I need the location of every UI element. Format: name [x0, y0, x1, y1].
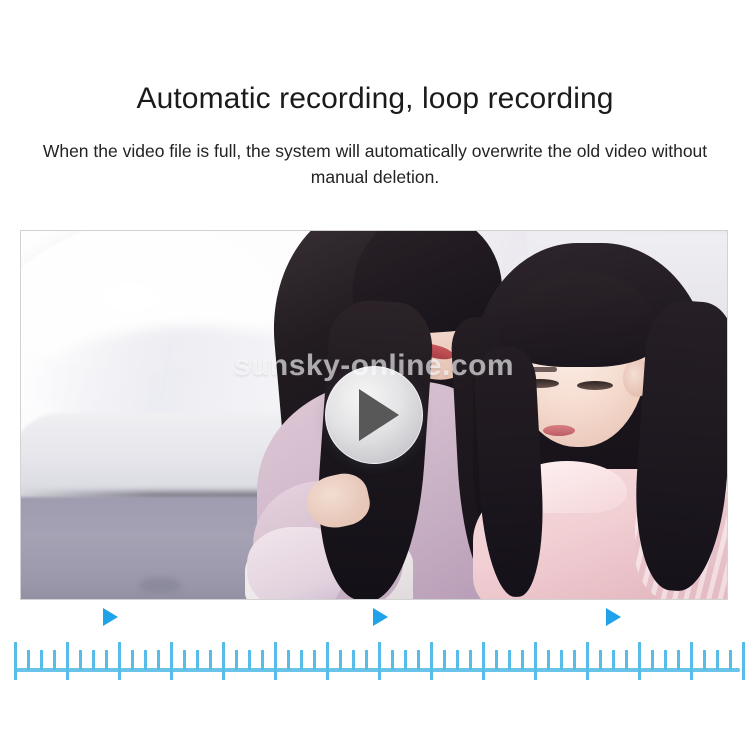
ruler-tick-major [586, 642, 589, 680]
ruler-tick-major [170, 642, 173, 680]
ruler-scale[interactable] [14, 640, 740, 684]
ruler-tick-minor [703, 650, 706, 670]
ruler-tick-minor [209, 650, 212, 670]
ruler-tick-minor [456, 650, 459, 670]
ruler-tick-major [326, 642, 329, 680]
ruler-tick-minor [599, 650, 602, 670]
ruler-tick-major [14, 642, 17, 680]
ruler-tick-major [638, 642, 641, 680]
ruler-tick-minor [612, 650, 615, 670]
ruler-tick-minor [651, 650, 654, 670]
ruler-tick-minor [27, 650, 30, 670]
ruler-tick-minor [547, 650, 550, 670]
photo-girl-eye-right [577, 381, 613, 390]
play-icon [359, 389, 399, 441]
ruler-tick-major [482, 642, 485, 680]
ruler-tick-minor [521, 650, 524, 670]
ruler-tick-minor [469, 650, 472, 670]
ruler-tick-minor [105, 650, 108, 670]
ruler-tick-minor [508, 650, 511, 670]
page-subtitle: When the video file is full, the system … [0, 138, 750, 191]
ruler-tick-minor [664, 650, 667, 670]
ruler-tick-major [222, 642, 225, 680]
ruler-tick-minor [352, 650, 355, 670]
ruler-tick-major [66, 642, 69, 680]
ruler-tick-major [430, 642, 433, 680]
photo-girl-lips [543, 425, 575, 436]
ruler-tick-major [742, 642, 745, 680]
ruler-tick-minor [404, 650, 407, 670]
ruler-tick-major [274, 642, 277, 680]
ruler-tick-major [534, 642, 537, 680]
ruler-tick-minor [144, 650, 147, 670]
ruler-tick-minor [40, 650, 43, 670]
ruler-baseline [14, 668, 740, 672]
timeline-ruler[interactable] [0, 600, 750, 690]
video-preview-frame[interactable]: sunsky-online.com [20, 230, 728, 600]
ruler-tick-minor [300, 650, 303, 670]
timeline-marker-2-icon[interactable] [373, 608, 388, 626]
ruler-tick-minor [53, 650, 56, 670]
ruler-tick-minor [716, 650, 719, 670]
ruler-tick-minor [677, 650, 680, 670]
photo-sofa-dimple [139, 577, 181, 593]
play-button[interactable] [325, 366, 423, 464]
ruler-tick-minor [417, 650, 420, 670]
ruler-tick-minor [443, 650, 446, 670]
ruler-tick-minor [183, 650, 186, 670]
ruler-tick-minor [339, 650, 342, 670]
ruler-tick-minor [261, 650, 264, 670]
ruler-tick-minor [729, 650, 732, 670]
ruler-tick-minor [79, 650, 82, 670]
ruler-tick-minor [248, 650, 251, 670]
ruler-tick-minor [495, 650, 498, 670]
product-detail-page: Automatic recording, loop recording When… [0, 0, 750, 750]
ruler-tick-minor [131, 650, 134, 670]
timeline-marker-1-icon[interactable] [103, 608, 118, 626]
ruler-tick-major [118, 642, 121, 680]
ruler-tick-minor [560, 650, 563, 670]
ruler-tick-minor [157, 650, 160, 670]
ruler-tick-major [378, 642, 381, 680]
ruler-tick-minor [92, 650, 95, 670]
ruler-tick-minor [235, 650, 238, 670]
ruler-tick-minor [391, 650, 394, 670]
timeline-marker-3-icon[interactable] [606, 608, 621, 626]
ruler-tick-minor [365, 650, 368, 670]
ruler-tick-minor [196, 650, 199, 670]
ruler-tick-minor [625, 650, 628, 670]
page-title: Automatic recording, loop recording [0, 82, 750, 116]
ruler-tick-minor [313, 650, 316, 670]
ruler-tick-major [690, 642, 693, 680]
ruler-tick-minor [573, 650, 576, 670]
ruler-tick-minor [287, 650, 290, 670]
